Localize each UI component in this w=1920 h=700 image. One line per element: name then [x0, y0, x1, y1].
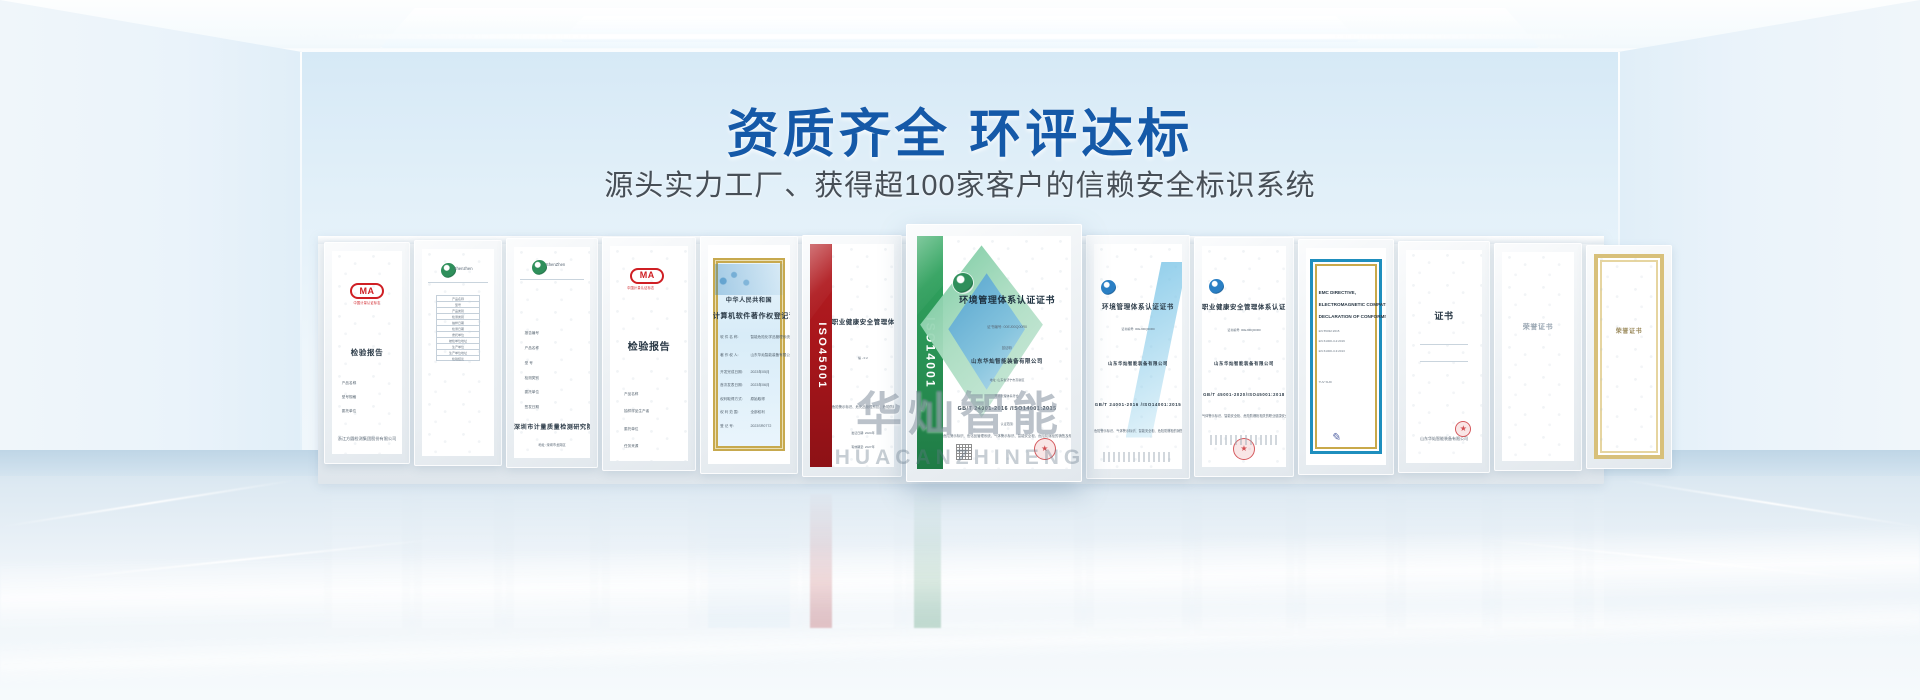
certificate-frame-ma-report-1[interactable]: MA 中国计量认证标志 检验报告 产品名称 型号规格 委托单位 浙江方圆检测集团…: [324, 242, 410, 464]
certificate-field: 检测类别: [525, 376, 539, 381]
certificate-frame-emc-directive[interactable]: EMC DIRECTIVE, ELECTROMAGNETIC COMPATIBI…: [1298, 239, 1394, 475]
certificate-inner-mat: 荣誉证书: [1502, 252, 1574, 461]
ornate-scrollwork: [715, 264, 783, 295]
divider: [1420, 361, 1469, 362]
certificate-frame-iso45001[interactable]: ISO45001 职业健康安全管理体系认证证书 编 - 0 2 危险警示标识、危…: [802, 235, 902, 477]
certificate-paper: MA 中国计量认证标志 检验报告 产品名称 抽样样品生产者 委托单位 任务来源: [610, 246, 688, 461]
certificate-title: 职业健康安全管理体系认证证书: [832, 318, 894, 327]
certificate-title: 证书: [1406, 310, 1482, 323]
certificate-field-value: 山东华灿智能装备有限公司: [750, 353, 790, 358]
certificate-field: 产品名称: [525, 346, 539, 351]
ornate-border: 中华人民共和国 计算机软件著作权登记证书 软 件 名 称: 智能危险化学品管理系…: [713, 258, 785, 451]
ma-mark-icon: MA: [630, 268, 664, 284]
certificate-title: 检验报告: [332, 348, 402, 359]
certificate-field: 委托单位: [525, 390, 539, 395]
certificate-paper: 环境管理体系认证证书 证书编号: 00EJ00Q00R0 山东华灿智能装备有限公…: [1094, 244, 1182, 469]
emc-border: EMC DIRECTIVE, ELECTROMAGNETIC COMPATIBI…: [1310, 259, 1382, 454]
certificate-field-label: 登 记 号:: [720, 424, 734, 429]
certificate-frame-shenzhen[interactable]: ShenZhen 报告编号 产品名称 型 号 检测类别 委托单位 签发日期 深圳…: [506, 238, 598, 468]
certificate-org: 深圳市计量质量检测研究院: [514, 424, 590, 433]
certificate-frame-honor-2[interactable]: 荣誉证书: [1494, 243, 1582, 471]
certificate-paper: Shenzhen 产品名称 型号 产品类别 检测类别 抽样日期 检测日期 委托单…: [422, 249, 494, 456]
certificate-field-label: 首次发表日期:: [720, 383, 743, 388]
emc-standard-ref: EN 61000-3-2:2019: [1319, 339, 1377, 343]
certificate-field-value: 2023SR0772: [750, 424, 771, 429]
certificate-cert-no: 证书编号: 00EJ00Q00R0: [943, 325, 1071, 330]
certificate-frame-ma-report-2[interactable]: MA 中国计量认证标志 检验报告 产品名称 抽样样品生产者 委托单位 任务来源: [602, 237, 696, 471]
certificate-paper: 职业健康安全管理体系认证证书 证书编号: 00EJ00Q00R0 山东华灿智能装…: [1202, 246, 1286, 467]
certificate-field: 型 号: [525, 361, 533, 366]
certificate-inner-mat: MA 中国计量认证标志 检验报告 产品名称 型号规格 委托单位 浙江方圆检测集团…: [332, 251, 402, 454]
certificate-inner-mat: EMC DIRECTIVE, ELECTROMAGNETIC COMPATIBI…: [1306, 248, 1386, 465]
red-seal-icon: [1034, 438, 1056, 460]
paper-watermark-pattern: [1502, 252, 1574, 461]
certificate-field-label: 权 利 范 围:: [720, 410, 738, 415]
certificate-title: 荣誉证书: [1594, 328, 1664, 337]
certificate-cert-no: 证书编号: 00EJ00Q00R0: [1202, 328, 1286, 332]
sidebar-decoration: [810, 244, 832, 320]
table-row: 检验结论: [436, 355, 479, 361]
signature-mark: ✎: [1330, 426, 1375, 445]
certificate-org-en: Shenzhen: [454, 266, 494, 272]
certificate-inner-mat: 证书 山东华灿智能装备有限公司: [1406, 250, 1482, 463]
emc-standard-ref: EN 55032:2015: [1319, 329, 1377, 333]
certificate-inner-mat: ISO14001 环境管理体系认证证书 证书编号: 00EJ00Q00R0 兹证…: [917, 236, 1071, 469]
certificate-paper: 中华人民共和国 计算机软件著作权登记证书 软 件 名 称: 智能危险化学品管理系…: [708, 245, 790, 464]
certificate-field-value: 2023年06月: [750, 383, 769, 388]
certificate-title: 环境管理体系认证证书: [1094, 303, 1182, 313]
certificate-field-value: 智能危险化学品管理系统 V1.0: [750, 335, 790, 340]
certificate-footer-row: 有效期至: 2027年: [832, 445, 894, 449]
ma-mark-subtext: 中国计量认证标志: [353, 301, 380, 306]
certificate-paper: MA 中国计量认证标志 检验报告 产品名称 型号规格 委托单位 浙江方圆检测集团…: [332, 251, 402, 454]
certificate-field: 任务来源: [624, 444, 638, 449]
emc-issuer: TUV SUD: [1319, 380, 1377, 384]
certificate-field: 委托单位: [342, 409, 356, 414]
iso-standard-sidebar: ISO45001: [810, 244, 832, 467]
certificate-inner-mat: MA 中国计量认证标志 检验报告 产品名称 抽样样品生产者 委托单位 任务来源: [610, 246, 688, 461]
certificate-frame-iso14001-env[interactable]: 环境管理体系认证证书 证书编号: 00EJ00Q00R0 山东华灿智能装备有限公…: [1086, 235, 1190, 479]
divider: [1420, 344, 1469, 345]
certificate-footer-row: 发证日期: 2024年: [832, 431, 894, 435]
certificate-field-table: 产品名称 型号 产品类别 检测类别 抽样日期 检测日期 委托单位 被检单位地址 …: [436, 295, 479, 361]
certificate-frame-iso14001-featured[interactable]: ISO14001 环境管理体系认证证书 证书编号: 00EJ00Q00R0 兹证…: [906, 224, 1082, 482]
certificate-field: 报告编号: [525, 331, 539, 336]
certificate-company: 山东华灿智能装备有限公司: [943, 359, 1071, 367]
certificate-frame-ohs-system[interactable]: 职业健康安全管理体系认证证书 证书编号: 00EJ00Q00R0 山东华灿智能装…: [1194, 237, 1294, 477]
certificate-standard-label: 环境管理体系符合:: [943, 394, 1071, 398]
certificate-org: 山东华灿智能装备有限公司: [1406, 436, 1482, 442]
certificate-paper: 荣誉证书: [1594, 254, 1664, 459]
certificate-paper: ISO14001 环境管理体系认证证书 证书编号: 00EJ00Q00R0 兹证…: [917, 236, 1071, 469]
certificate-field-value: 2023年05月: [750, 370, 769, 375]
certificate-field: 产品名称: [624, 392, 638, 397]
iso-standard-label: ISO45001: [813, 322, 829, 389]
ma-mark-icon: MA: [350, 283, 384, 299]
certificate-inner-mat: Shenzhen 产品名称 型号 产品类别 检测类别 抽样日期 检测日期 委托单…: [422, 249, 494, 456]
certificate-cert-no: 编 - 0 2: [832, 356, 894, 360]
certificate-field-label: 权利取得方式:: [720, 397, 743, 402]
certificate-scope-label: 认证范围:: [943, 422, 1071, 426]
certificate-scope: 气体警示标识、智能安全柜、危险防爆柜相关的职业健康安全管理活动: [1202, 414, 1286, 419]
certificate-field: 签发日期: [525, 405, 539, 410]
emc-line: ELECTROMAGNETIC COMPATIBILITY DIRECTIVE: [1319, 302, 1377, 309]
certificate-inner-mat: 中华人民共和国 计算机软件著作权登记证书 软 件 名 称: 智能危险化学品管理系…: [708, 245, 790, 464]
certificate-title: 计算机软件著作权登记证书: [713, 312, 785, 322]
ceiling-light-strip: [300, 34, 1620, 39]
certificate-body: 职业健康安全管理体系认证证书 编 - 0 2 危险警示标识、危化品管理系统、危险…: [832, 244, 894, 467]
divider: [428, 282, 489, 283]
certificate-title: 环境管理体系认证证书: [943, 294, 1071, 307]
certificate-address: 地址: 山东省济宁市高新区: [943, 378, 1071, 382]
certification-badge-icon: [1101, 280, 1116, 295]
certificate-title: 职业健康安全管理体系认证证书: [1202, 303, 1286, 312]
barcode-blocks: [1103, 452, 1173, 462]
certificate-title: 检验报告: [610, 341, 688, 356]
certificate-frame-software-copyright[interactable]: 中华人民共和国 计算机软件著作权登记证书 软 件 名 称: 智能危险化学品管理系…: [700, 236, 798, 474]
certificate-frame-gold[interactable]: 荣誉证书: [1586, 245, 1672, 469]
ma-mark-subtext: 中国计量认证标志: [627, 286, 654, 291]
certificate-shelf: MA 中国计量认证标志 检验报告 产品名称 型号规格 委托单位 浙江方圆检测集团…: [318, 236, 1604, 484]
banner-subheadline: 源头实力工厂、获得超100家客户的信赖安全标识系统: [0, 162, 1920, 204]
certificate-frame-field-table[interactable]: Shenzhen 产品名称 型号 产品类别 检测类别 抽样日期 检测日期 委托单…: [414, 240, 502, 466]
certificate-field: 委托单位: [624, 427, 638, 432]
certificate-label: 兹证明:: [943, 346, 1071, 351]
certificate-standard-line: GB/T 45001-2020/ISO45001:2018: [1202, 392, 1286, 398]
emc-line: DECLARATION OF CONFORMITY: [1319, 314, 1377, 321]
certificate-frame-honor-1[interactable]: 证书 山东华灿智能装备有限公司: [1398, 241, 1490, 473]
certificate-company: 山东华灿智能装备有限公司: [1202, 361, 1286, 367]
certificate-inner-mat: 环境管理体系认证证书 证书编号: 00EJ00Q00R0 山东华灿智能装备有限公…: [1094, 244, 1182, 469]
paper-watermark-pattern: [1594, 254, 1664, 459]
emc-line: EMC DIRECTIVE,: [1319, 290, 1377, 297]
certificate-company: 山东华灿智能装备有限公司: [1094, 361, 1182, 367]
certification-badge-icon: [1209, 279, 1224, 294]
certificate-field-label: 开发完成日期:: [720, 370, 743, 375]
certificate-inner-mat: 荣誉证书: [1594, 254, 1664, 459]
certificate-field: 型号规格: [342, 395, 356, 400]
certificate-title: 荣誉证书: [1502, 323, 1574, 333]
certificate-paper: ISO45001 职业健康安全管理体系认证证书 编 - 0 2 危险警示标识、危…: [810, 244, 894, 467]
certificate-scope: 危险警示标识、危化品管理系统、危险防爆柜的生产: [832, 405, 894, 410]
certificate-scope: 危险警示标识、气体警示标识、智能安全柜、危险防爆柜的销售及相关的环境管理活动: [1094, 429, 1182, 434]
emc-standard-ref: EN 61000-3-3:2013: [1319, 349, 1377, 353]
certificate-inner-mat: ShenZhen 报告编号 产品名称 型 号 检测类别 委托单位 签发日期 深圳…: [514, 247, 590, 458]
certificate-field: 抽样样品生产者: [624, 409, 649, 414]
certificate-body: 环境管理体系认证证书 证书编号: 00EJ00Q00R0 兹证明: 山东华灿智能…: [943, 236, 1071, 469]
certificate-paper: 证书 山东华灿智能装备有限公司: [1406, 250, 1482, 463]
certificate-paper: ShenZhen 报告编号 产品名称 型 号 检测类别 委托单位 签发日期 深圳…: [514, 247, 590, 458]
certificate-cert-no: 证书编号: 00EJ00Q00R0: [1094, 327, 1182, 331]
certificate-field: 产品名称: [342, 381, 356, 386]
certificate-inner-mat: 职业健康安全管理体系认证证书 证书编号: 00EJ00Q00R0 山东华灿智能装…: [1202, 246, 1286, 467]
certificate-org-en: ShenZhen: [546, 262, 590, 268]
certificate-org: 浙江方圆检测集团股份有限公司: [332, 436, 402, 442]
certificate-inner-mat: ISO45001 职业健康安全管理体系认证证书 编 - 0 2 危险警示标识、危…: [810, 244, 894, 467]
certificate-field-value: 全部权利: [750, 410, 764, 415]
certificate-address: 地址: 深圳市龙岗区: [514, 443, 590, 448]
banner-headline: 资质齐全 环评达标: [0, 92, 1920, 167]
divider: [520, 279, 584, 280]
certificate-field-label: 软 件 名 称:: [720, 335, 738, 340]
certificate-scope: 危险警示标识、危化品管理系统、气体警示标识、智能安全柜、危险防爆柜的销售及相关的…: [943, 434, 1071, 439]
certificate-field-value: 原始取得: [750, 397, 764, 402]
certificate-country: 中华人民共和国: [713, 297, 785, 306]
certificate-hero-banner: 资质齐全 环评达标 源头实力工厂、获得超100家客户的信赖安全标识系统 MA 中…: [0, 0, 1920, 700]
certificate-standard-line: GB/T 24001-2016 /ISO14001:2015: [1094, 402, 1182, 408]
certificate-paper: EMC DIRECTIVE, ELECTROMAGNETIC COMPATIBI…: [1306, 248, 1386, 465]
certificate-paper: 荣誉证书: [1502, 252, 1574, 461]
certificate-field-label: 著 作 权 人:: [720, 353, 738, 358]
certificate-standard-line: GB/T 24001-2016 /ISO14001:2015: [943, 406, 1071, 414]
qr-code-icon: [956, 444, 972, 460]
barcode-blocks: [1210, 435, 1277, 445]
